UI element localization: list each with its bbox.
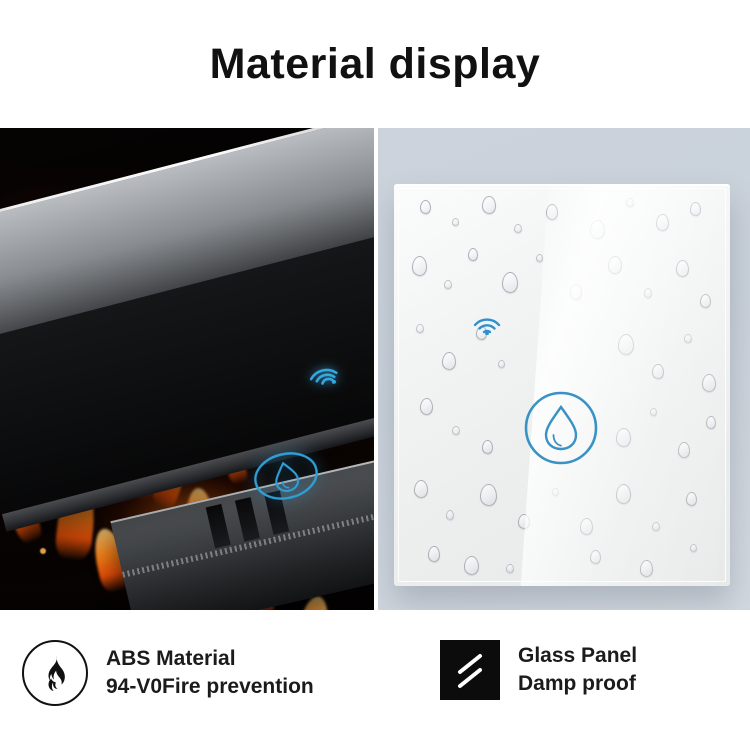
water-drop	[678, 442, 690, 458]
left-product-photo	[0, 128, 374, 610]
water-drop	[452, 426, 460, 435]
feature-line-1: Glass Panel	[518, 642, 637, 670]
water-drop	[552, 488, 559, 496]
water-drop	[690, 202, 701, 216]
water-drop	[690, 544, 697, 552]
water-drop	[414, 480, 428, 498]
water-drop	[644, 288, 652, 298]
water-drop	[626, 198, 634, 207]
water-drop	[498, 360, 505, 368]
water-drop	[412, 256, 427, 276]
water-drop	[700, 294, 711, 308]
water-drop	[618, 334, 634, 355]
feature-line-1: ABS Material	[106, 645, 314, 673]
water-drop	[706, 416, 716, 429]
ember-spark	[40, 548, 46, 554]
showcase-photo-row	[0, 128, 750, 610]
back-plate-tooth	[235, 497, 260, 542]
feature-caption-row: ABS Material 94-V0Fire prevention Glass …	[0, 616, 750, 750]
water-drop	[656, 214, 669, 231]
glass-shine-square-icon	[440, 640, 500, 700]
water-drop	[702, 374, 716, 392]
water-drop	[420, 398, 433, 415]
water-drop	[590, 220, 605, 239]
feature-abs-material: ABS Material 94-V0Fire prevention	[22, 640, 314, 706]
feature-line-2: 94-V0Fire prevention	[106, 673, 314, 701]
back-plate-tooth	[206, 504, 231, 549]
water-drop	[616, 428, 631, 447]
water-drop	[536, 254, 543, 262]
water-drop	[650, 408, 657, 416]
water-drop	[446, 510, 454, 520]
water-drop	[416, 324, 424, 333]
water-drop	[428, 546, 440, 562]
water-drop	[420, 200, 431, 214]
water-drop	[546, 204, 558, 220]
fire-flame-circle-icon	[22, 640, 88, 706]
white-glass-switch-panel	[394, 184, 730, 586]
water-drop	[608, 256, 622, 274]
water-drop	[684, 334, 692, 343]
glass-reflection-sheen	[518, 184, 730, 586]
water-drop	[468, 248, 478, 261]
water-drop	[502, 272, 518, 293]
page-title: Material display	[210, 43, 541, 86]
water-drop	[580, 518, 593, 535]
water-drop	[570, 284, 582, 300]
feature-glass-panel: Glass Panel Damp proof	[440, 640, 637, 700]
water-drop	[640, 560, 653, 577]
water-drop	[514, 224, 522, 233]
right-product-photo	[378, 128, 750, 610]
feature-abs-material-text: ABS Material 94-V0Fire prevention	[106, 645, 314, 700]
wifi-icon	[472, 312, 502, 335]
water-drop	[480, 484, 497, 506]
water-drop	[616, 484, 631, 504]
water-drop-button-icon[interactable]	[522, 389, 600, 467]
water-drop	[652, 364, 664, 379]
water-drop	[676, 260, 689, 277]
water-drop	[444, 280, 452, 289]
water-drop	[518, 514, 530, 529]
water-drop	[506, 564, 514, 573]
water-drop	[590, 550, 601, 564]
water-drop	[652, 522, 660, 531]
water-drop	[452, 218, 459, 226]
water-drop	[464, 556, 479, 575]
water-drop	[482, 196, 496, 214]
water-drop	[482, 440, 493, 454]
feature-line-2: Damp proof	[518, 670, 637, 698]
feature-glass-panel-text: Glass Panel Damp proof	[518, 642, 637, 697]
page-header: Material display	[0, 0, 750, 128]
water-drop	[686, 492, 697, 506]
water-drop	[442, 352, 456, 370]
